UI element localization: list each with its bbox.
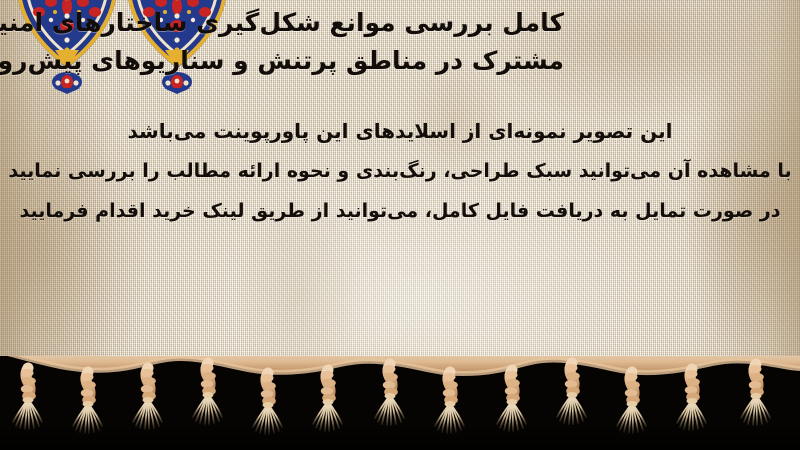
- page-title-line-2: مشترک در مناطق پرتنش و سناریوهای پیش‌رو: [12, 42, 564, 80]
- body-text-line-2: با مشاهده آن می‌توانید سبک طراحی، رنگ‌بن…: [0, 151, 800, 191]
- slide-canvas: کامل بررسی موانع شکل‌گیری ساختارهای امنی…: [0, 0, 800, 450]
- carpet-fringe: [0, 356, 800, 450]
- body-text-line-3: در صورت تمایل به دریافت فایل کامل، می‌تو…: [0, 191, 800, 232]
- fringe-tassels-icon: [0, 356, 800, 450]
- page-title-line-1: کامل بررسی موانع شکل‌گیری ساختارهای امنی…: [12, 4, 564, 42]
- body-text-line-1: این تصویر نمونه‌ای از اسلایدهای این پاور…: [0, 112, 800, 151]
- text-layer: کامل بررسی موانع شکل‌گیری ساختارهای امنی…: [0, 0, 800, 392]
- page-title: کامل بررسی موانع شکل‌گیری ساختارهای امنی…: [12, 4, 564, 80]
- body-text: این تصویر نمونه‌ای از اسلایدهای این پاور…: [0, 112, 800, 232]
